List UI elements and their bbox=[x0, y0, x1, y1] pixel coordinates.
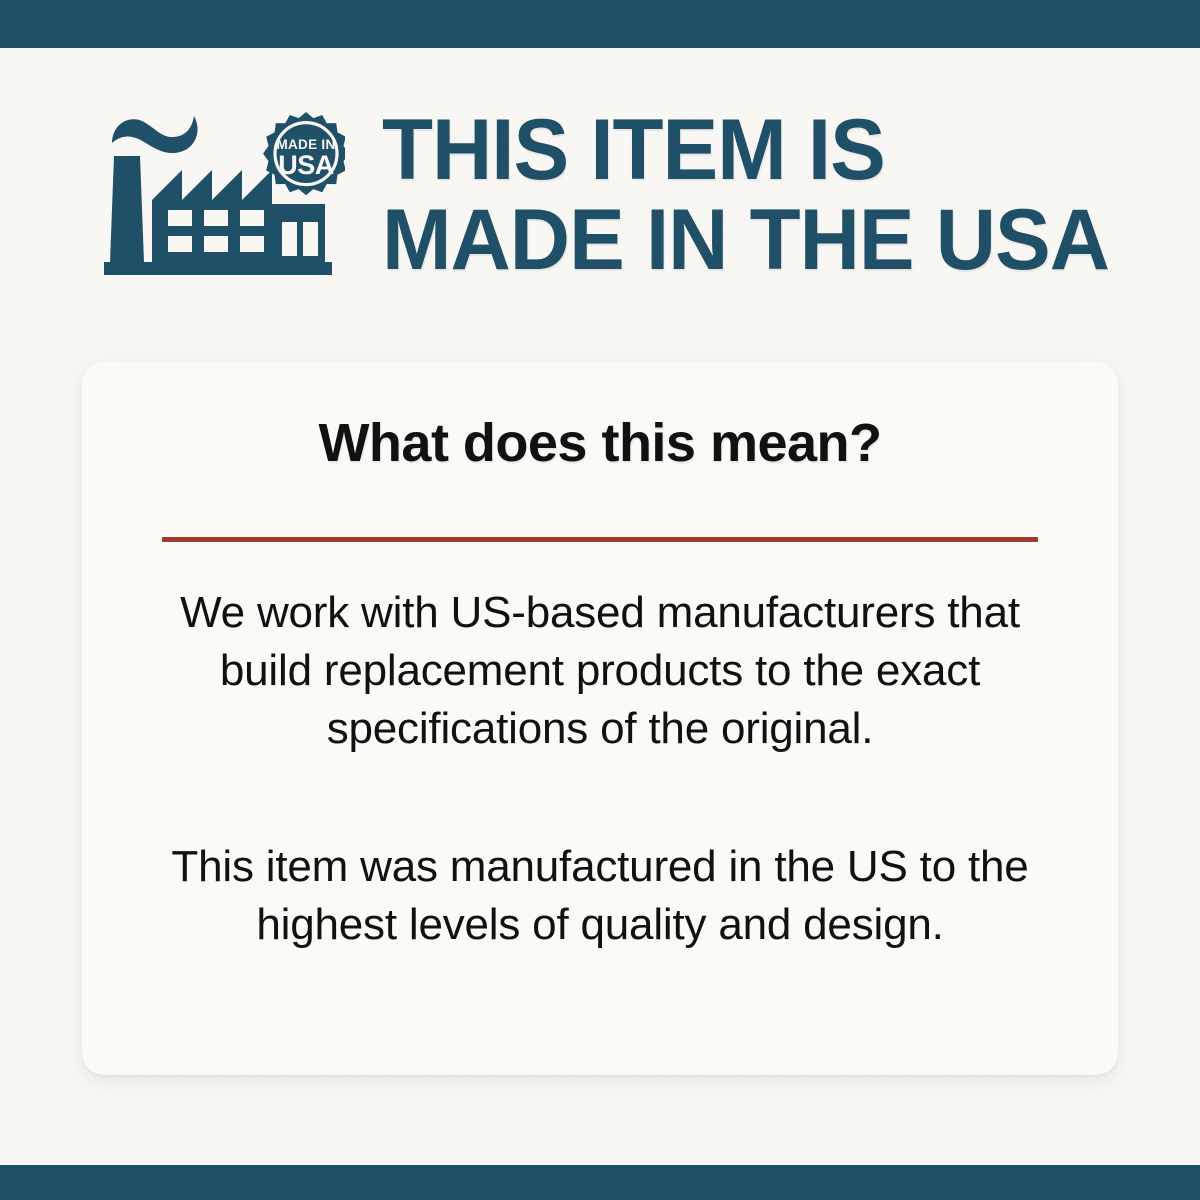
svg-text:USA: USA bbox=[278, 150, 334, 180]
paragraph-spacer bbox=[142, 758, 1058, 838]
card-paragraph-2: This item was manufactured in the US to … bbox=[142, 838, 1058, 954]
card-heading: What does this mean? bbox=[82, 414, 1118, 472]
card-body: We work with US-based manufacturers that… bbox=[142, 584, 1058, 954]
top-accent-bar bbox=[0, 0, 1200, 48]
card-paragraph-1: We work with US-based manufacturers that… bbox=[142, 584, 1058, 758]
card-divider bbox=[162, 537, 1038, 542]
page-root: MADE IN USA THIS ITEM IS MADE IN THE USA… bbox=[0, 0, 1200, 1200]
page-title-line-1: THIS ITEM IS bbox=[382, 105, 1148, 195]
bottom-accent-bar bbox=[0, 1165, 1200, 1200]
made-in-usa-factory-icon: MADE IN USA bbox=[100, 104, 345, 279]
page-title: THIS ITEM IS MADE IN THE USA bbox=[382, 105, 1148, 285]
info-card: What does this mean? We work with US-bas… bbox=[82, 362, 1118, 1075]
header-banner: MADE IN USA THIS ITEM IS MADE IN THE USA bbox=[0, 48, 1200, 298]
page-title-line-2: MADE IN THE USA bbox=[382, 195, 1148, 285]
